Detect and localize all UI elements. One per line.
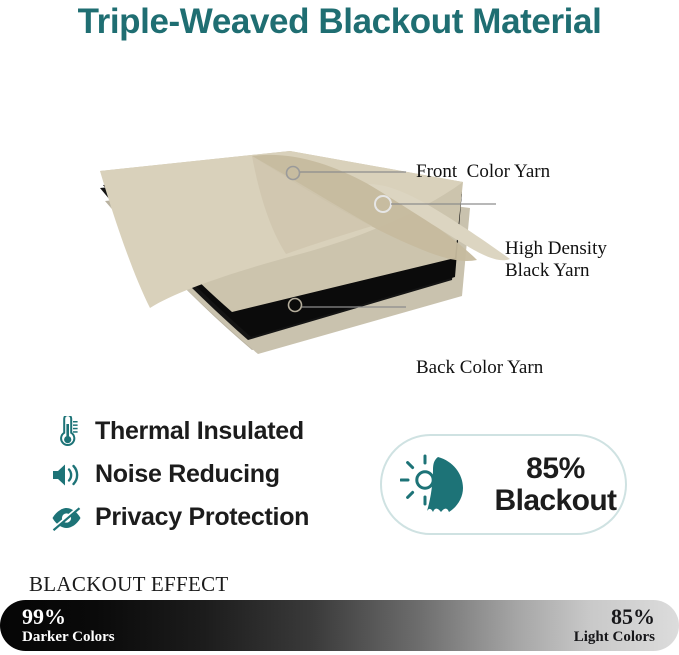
thermometer-icon	[47, 415, 85, 449]
blackout-badge-text: 85% Blackout	[486, 453, 625, 517]
fabric-layers-illustration	[0, 58, 679, 358]
callout-label-high-density-line1: High Density	[505, 238, 607, 259]
blackout-badge: 85% Blackout	[380, 434, 627, 535]
callout-label-front-color-yarn: Front Color Yarn	[416, 161, 550, 183]
blackout-effect-right-end: 85% Light Colors	[574, 600, 655, 651]
speaker-icon	[47, 458, 85, 492]
blackout-effect-heading: BLACKOUT EFFECT	[29, 572, 229, 597]
blackout-effect-left-percent: 99%	[22, 606, 66, 629]
blackout-effect-left-sublabel: Darker Colors	[22, 629, 115, 646]
fabric-layers-diagram: Front Color Yarn High DensityBlack Yarn …	[0, 58, 679, 358]
blackout-badge-word: Blackout	[486, 485, 625, 517]
feature-item-thermal-insulated: Thermal Insulated	[47, 410, 357, 453]
blackout-effect-right-percent: 85%	[611, 606, 655, 629]
blackout-effect-gradient-bar: 99% Darker Colors 85% Light Colors	[0, 600, 679, 651]
blackout-effect-left-end: 99% Darker Colors	[22, 600, 115, 651]
callout-label-back-color-yarn: Back Color Yarn	[416, 357, 543, 379]
feature-label-privacy-protection: Privacy Protection	[95, 503, 309, 532]
feature-label-noise-reducing: Noise Reducing	[95, 460, 280, 489]
callout-label-high-density-line2: Black Yarn	[505, 260, 589, 281]
callout-label-high-density-black-yarn: High DensityBlack Yarn	[505, 238, 607, 283]
blackout-badge-percent: 85%	[486, 453, 625, 485]
eye-slash-icon	[47, 501, 85, 535]
feature-item-privacy-protection: Privacy Protection	[47, 496, 357, 539]
page-title: Triple-Weaved Blackout Material	[0, 2, 679, 42]
blackout-effect-right-sublabel: Light Colors	[574, 629, 655, 646]
sun-blocked-icon	[400, 452, 472, 518]
feature-item-noise-reducing: Noise Reducing	[47, 453, 357, 496]
feature-list: Thermal Insulated Noise Reducing Privacy…	[47, 410, 357, 539]
feature-label-thermal-insulated: Thermal Insulated	[95, 417, 304, 446]
